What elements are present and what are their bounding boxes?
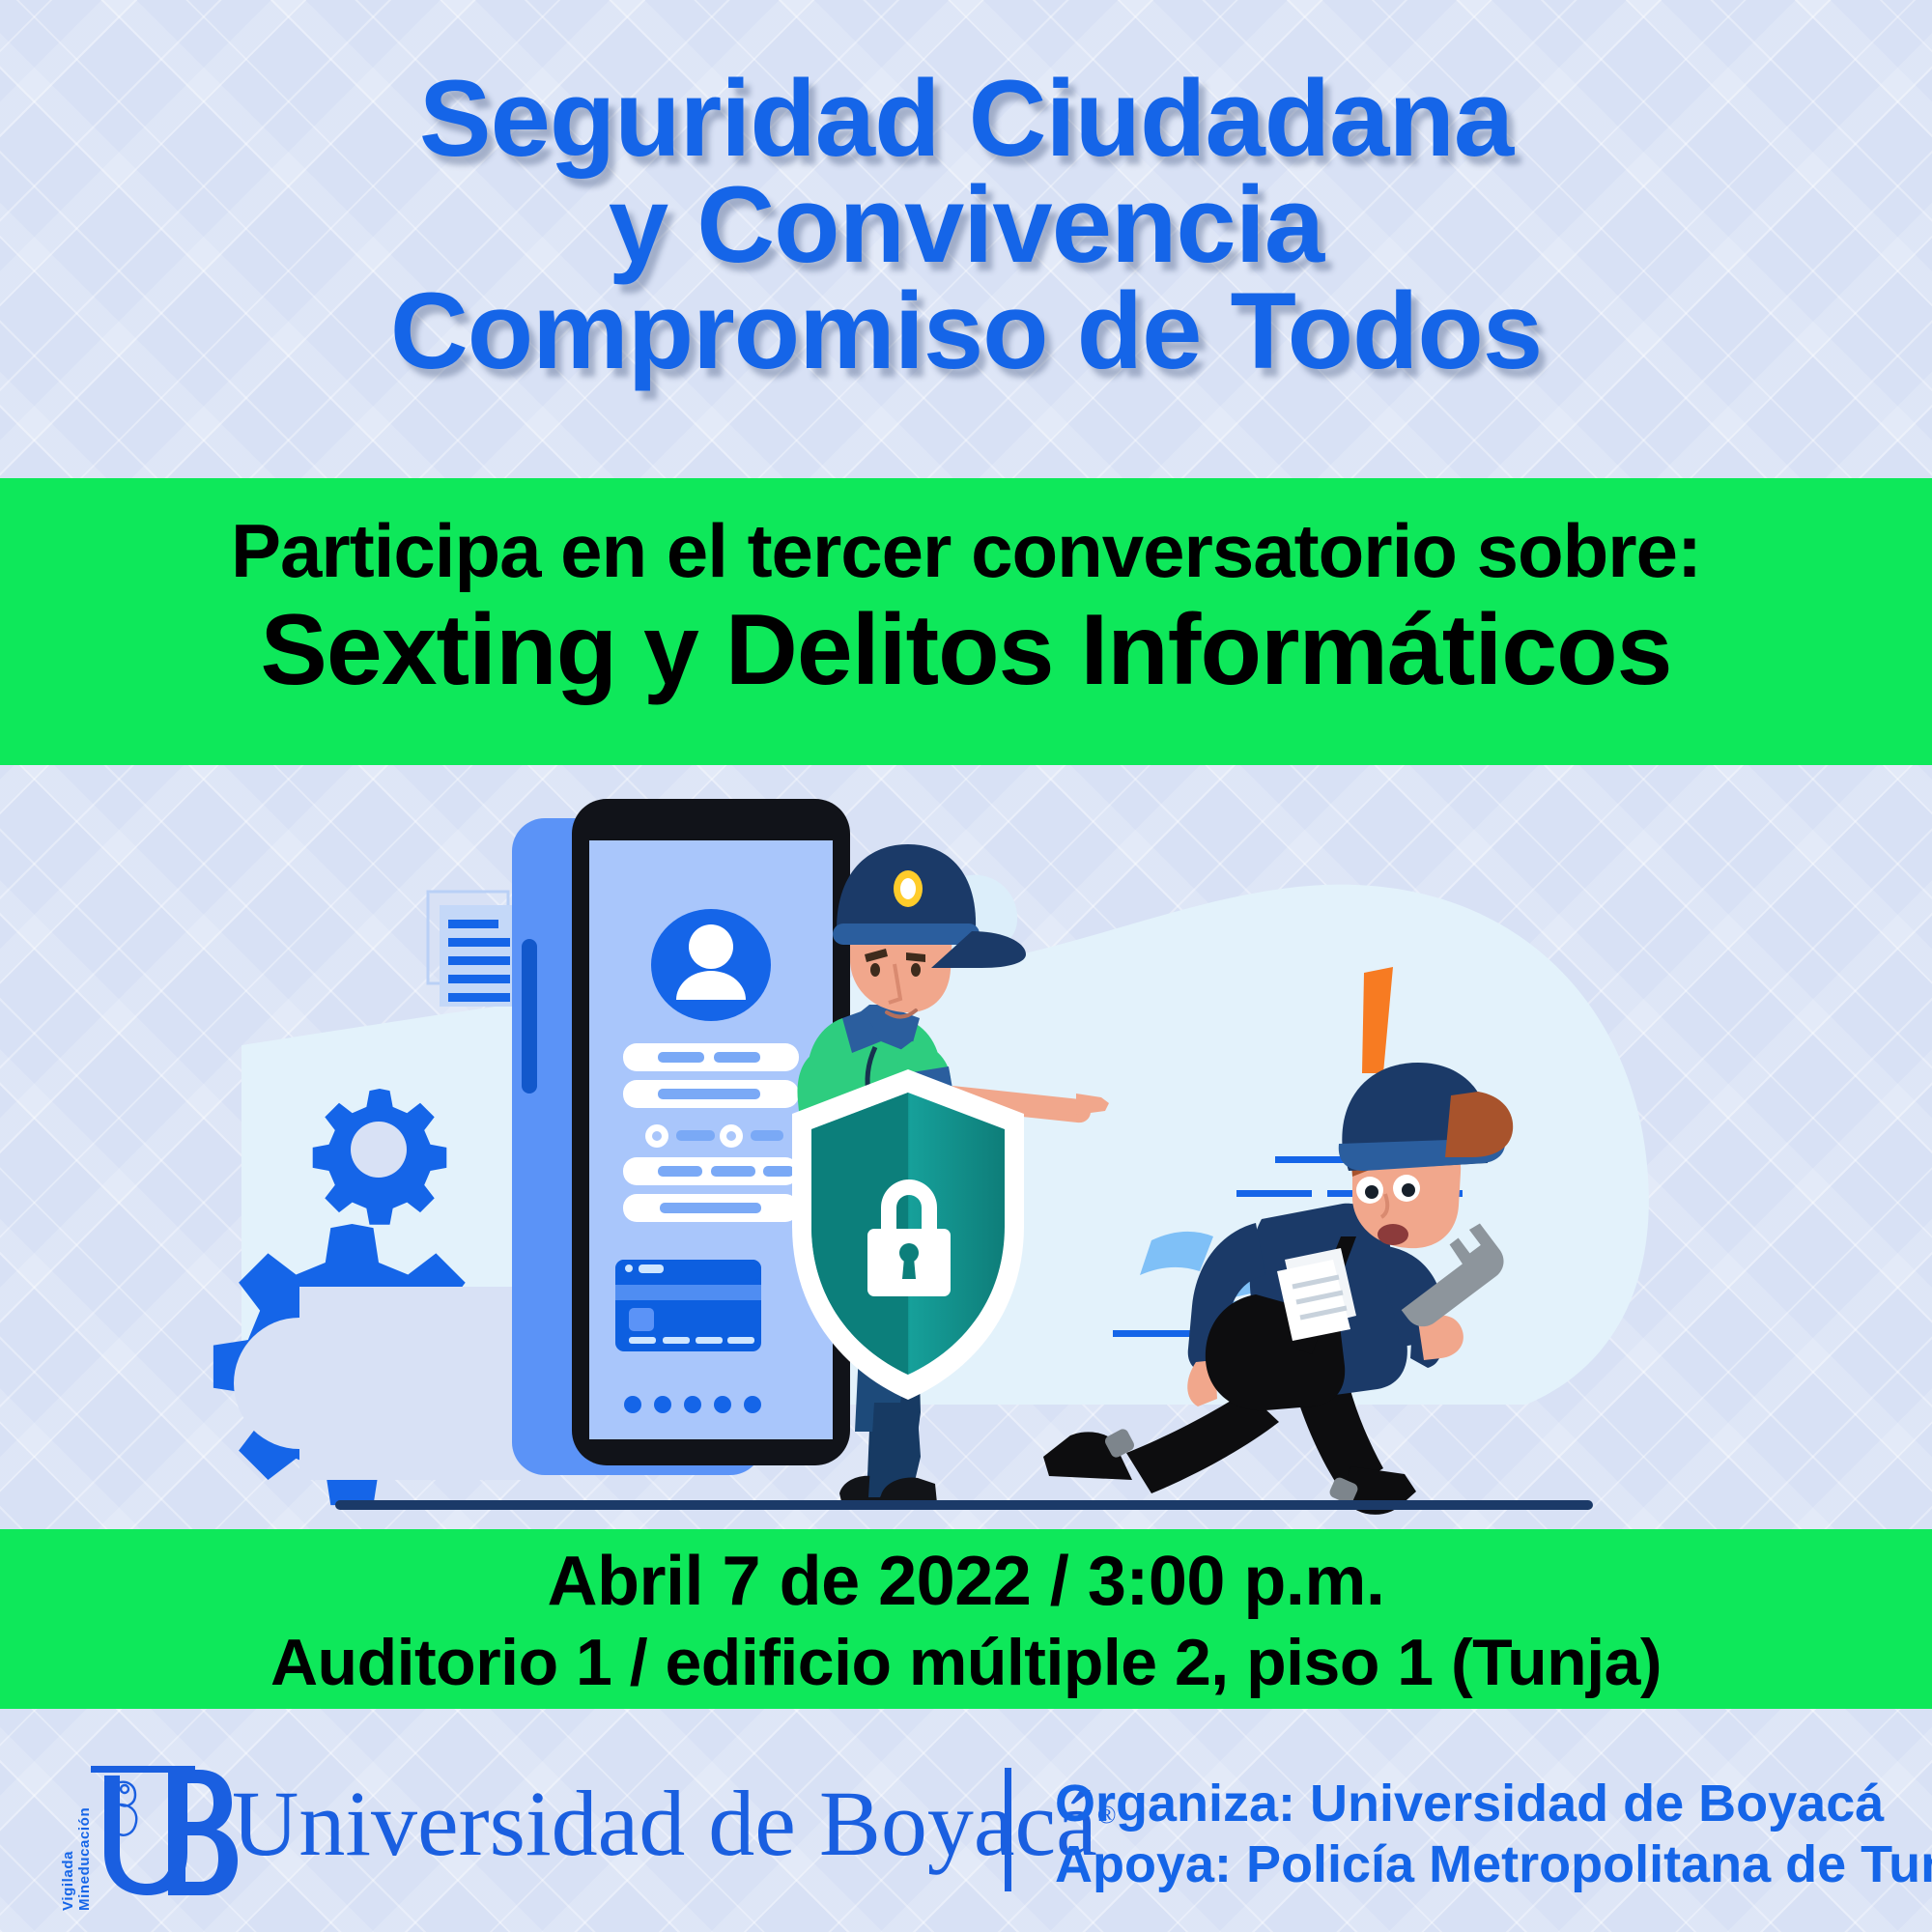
topic-banner: Participa en el tercer conversatorio sob… [0, 478, 1932, 765]
credit-card-icon [615, 1260, 761, 1351]
illustration [0, 765, 1932, 1529]
footer-divider [1005, 1768, 1011, 1891]
user-avatar-icon [651, 909, 771, 1021]
document-icon [428, 892, 520, 1007]
event-place: Auditorio 1 / edificio múltiple 2, piso … [0, 1630, 1932, 1695]
form-field-row [623, 1194, 799, 1222]
form-field-row [623, 1080, 799, 1108]
banner-subtitle-small: Participa en el tercer conversatorio sob… [0, 513, 1932, 588]
form-field-row [623, 1043, 799, 1071]
event-date: Abril 7 de 2022 / 3:00 p.m. [0, 1547, 1932, 1616]
organizers-block: Organiza: Universidad de Boyacá Apoya: P… [1055, 1774, 1924, 1894]
title-line-1: Seguridad Ciudadana [0, 66, 1932, 172]
form-field-row [623, 1157, 799, 1185]
ub-wordmark-text: Universidad de Boyacá [232, 1772, 1097, 1875]
page-title: Seguridad Ciudadana y Convivencia Compro… [0, 66, 1932, 384]
details-banner: Abril 7 de 2022 / 3:00 p.m. Auditorio 1 … [0, 1529, 1932, 1709]
banner-subtitle-big: Sexting y Delitos Informáticos [0, 600, 1932, 700]
title-line-2: y Convivencia [0, 172, 1932, 278]
poster-root: Seguridad Ciudadana y Convivencia Compro… [0, 0, 1932, 1932]
ub-logo-mark [85, 1760, 240, 1910]
organiza-line: Organiza: Universidad de Boyacá [1055, 1774, 1924, 1834]
apoya-line: Apoya: Policía Metropolitana de Tunja [1055, 1834, 1924, 1895]
ub-wordmark: Universidad de Boyacá® [232, 1777, 1116, 1870]
title-line-3: Compromiso de Todos [0, 278, 1932, 384]
